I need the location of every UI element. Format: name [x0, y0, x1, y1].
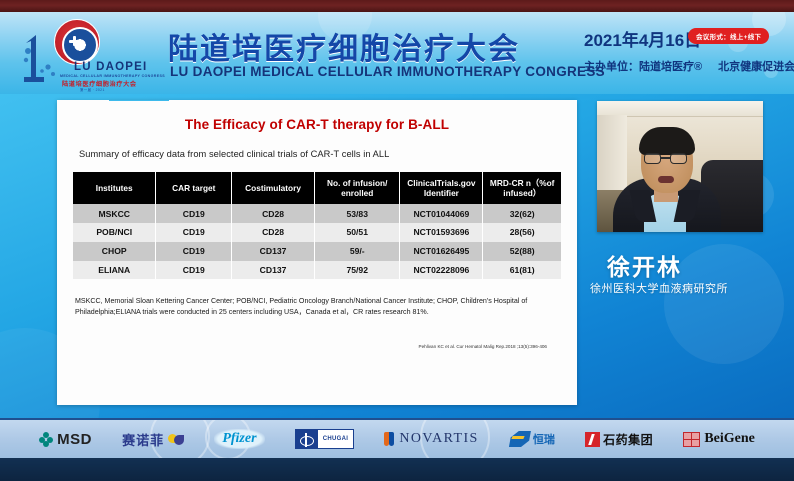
host-primary: 主办单位：陆道培医疗®	[584, 61, 702, 73]
slide-subtitle: Summary of efficacy data from selected c…	[79, 149, 389, 159]
col-costimulatory: Costimulatory	[232, 172, 315, 204]
sponsor-bar: MSD 赛诺菲 Pfizer CHUGAI NOVARTIS	[0, 418, 794, 458]
cell-car-target: CD19	[156, 223, 232, 242]
beigene-logo-icon	[683, 432, 700, 447]
medical-cross-icon	[69, 36, 79, 46]
cell-costim: CD137	[232, 242, 315, 261]
slide-citation: Pehlivan KC et al. Cur Hematol Malig Rep…	[419, 344, 547, 349]
novartis-logo-icon	[384, 432, 395, 447]
cell-nct: NCT01626495	[400, 242, 483, 261]
cspc-logo-icon	[585, 432, 600, 447]
logo-brand-en: LU DAOPEI	[74, 61, 147, 73]
cell-mrd: 28(56)	[483, 223, 561, 242]
sponsor-beigene[interactable]: BeiGene	[683, 431, 755, 447]
efficacy-table: Institutes CAR target Costimulatory No. …	[73, 172, 561, 279]
sponsor-label: 恒瑞	[533, 431, 555, 447]
lu-daopei-logo: LU DAOPEI MEDICAL CELLULAR IMMUNOTHERAPY…	[18, 17, 158, 89]
msd-logo-icon	[39, 432, 53, 446]
speaker-name: 徐开林	[607, 248, 682, 282]
cell-mrd: 32(62)	[483, 204, 561, 223]
congress-header-banner: LU DAOPEI MEDICAL CELLULAR IMMUNOTHERAPY…	[0, 12, 794, 94]
table-row: MSKCC CD19 CD28 53/83 NCT01044069 32(62)	[73, 204, 561, 223]
eyeglasses-bridge	[661, 157, 670, 159]
speaker-video-panel[interactable]	[597, 101, 763, 232]
cell-infusion: 50/51	[315, 223, 400, 242]
sponsor-label: CHUGAI	[318, 430, 353, 448]
sponsor-chugai[interactable]: CHUGAI	[295, 429, 354, 449]
broadcast-screen: LU DAOPEI MEDICAL CELLULAR IMMUNOTHERAPY…	[0, 0, 794, 481]
stage-circle-decor	[664, 244, 784, 364]
speaker-mouth	[658, 176, 674, 183]
cell-institute: ELIANA	[73, 261, 156, 280]
chugai-logo-icon: CHUGAI	[295, 429, 354, 449]
congress-date: 2021年4月16日	[584, 26, 701, 51]
congress-title-cn: 陆道培医疗细胞治疗大会	[168, 24, 520, 68]
table-row: POB/NCI CD19 CD28 50/51 NCT01593696 28(5…	[73, 223, 561, 242]
sponsor-label: 赛诺菲	[122, 430, 164, 449]
cell-nct: NCT01593696	[400, 223, 483, 242]
sponsor-pfizer[interactable]: Pfizer	[214, 429, 264, 449]
presentation-slide[interactable]: The Efficacy of CAR-T therapy for B-ALL …	[57, 100, 577, 405]
cell-infusion: 53/83	[315, 204, 400, 223]
table-row: ELIANA CD19 CD137 75/92 NCT02228096 61(8…	[73, 261, 561, 280]
cell-nct: NCT01044069	[400, 204, 483, 223]
cell-costim: CD28	[232, 204, 315, 223]
sponsor-sanofi[interactable]: 赛诺菲	[122, 430, 184, 449]
cell-car-target: CD19	[156, 242, 232, 261]
cell-infusion: 59/-	[315, 242, 400, 261]
logo-edition-year: 第一届 · 2021	[80, 87, 105, 92]
cell-infusion: 75/92	[315, 261, 400, 280]
col-nct-identifier: ClinicalTrials.gov Identifier	[400, 172, 483, 204]
sponsor-hengrui[interactable]: 恒瑞	[509, 431, 555, 447]
host-organizations: 主办单位：陆道培医疗®北京健康促进会	[584, 58, 794, 74]
hengrui-logo-icon	[509, 431, 531, 447]
col-mrd-cr: MRD-CR n（%of infused）	[483, 172, 561, 204]
cell-car-target: CD19	[156, 204, 232, 223]
host-secondary: 北京健康促进会	[718, 61, 794, 73]
col-infusion: No. of infusion/ enrolled	[315, 172, 400, 204]
logo-subtitle-en: MEDICAL CELLULAR IMMUNOTHERAPY CONGRESS	[60, 74, 165, 78]
speaker-organization: 徐州医科大学血液病研究所	[590, 280, 728, 296]
cell-car-target: CD19	[156, 261, 232, 280]
slide-footnote: MSKCC, Memorial Sloan Kettering Cancer C…	[75, 296, 545, 318]
sponsor-novartis[interactable]: NOVARTIS	[384, 431, 478, 447]
sponsor-label: NOVARTIS	[399, 431, 478, 447]
speaker-hair	[639, 127, 695, 155]
col-institutes: Institutes	[73, 172, 156, 204]
col-car-target: CAR target	[156, 172, 232, 204]
slide-window-chrome	[109, 100, 169, 101]
cell-mrd: 61(81)	[483, 261, 561, 280]
cell-institute: CHOP	[73, 242, 156, 261]
sponsor-label: MSD	[57, 431, 92, 448]
cell-nct: NCT02228096	[400, 261, 483, 280]
top-strip	[0, 0, 794, 12]
slide-title: The Efficacy of CAR-T therapy for B-ALL	[57, 117, 577, 132]
sponsor-label: Pfizer	[214, 429, 264, 449]
cell-costim: CD137	[232, 261, 315, 280]
meeting-format-badge: 会议形式：线上+线下	[688, 28, 769, 44]
cell-institute: MSKCC	[73, 204, 156, 223]
sponsor-label: BeiGene	[704, 431, 755, 447]
sponsor-label: 石药集团	[603, 431, 653, 448]
bottom-band	[0, 458, 794, 481]
cell-institute: POB/NCI	[73, 223, 156, 242]
congress-title-en: LU DAOPEI MEDICAL CELLULAR IMMUNOTHERAPY…	[170, 64, 605, 79]
eyeglasses-icon	[670, 153, 687, 164]
sponsor-msd[interactable]: MSD	[39, 431, 92, 448]
table-header-row: Institutes CAR target Costimulatory No. …	[73, 172, 561, 204]
cell-mrd: 52(88)	[483, 242, 561, 261]
sanofi-logo-icon	[168, 433, 184, 445]
sponsor-cspc[interactable]: 石药集团	[585, 431, 653, 448]
eyeglasses-icon	[644, 153, 661, 164]
table-row: CHOP CD19 CD137 59/- NCT01626495 52(88)	[73, 242, 561, 261]
cell-costim: CD28	[232, 223, 315, 242]
